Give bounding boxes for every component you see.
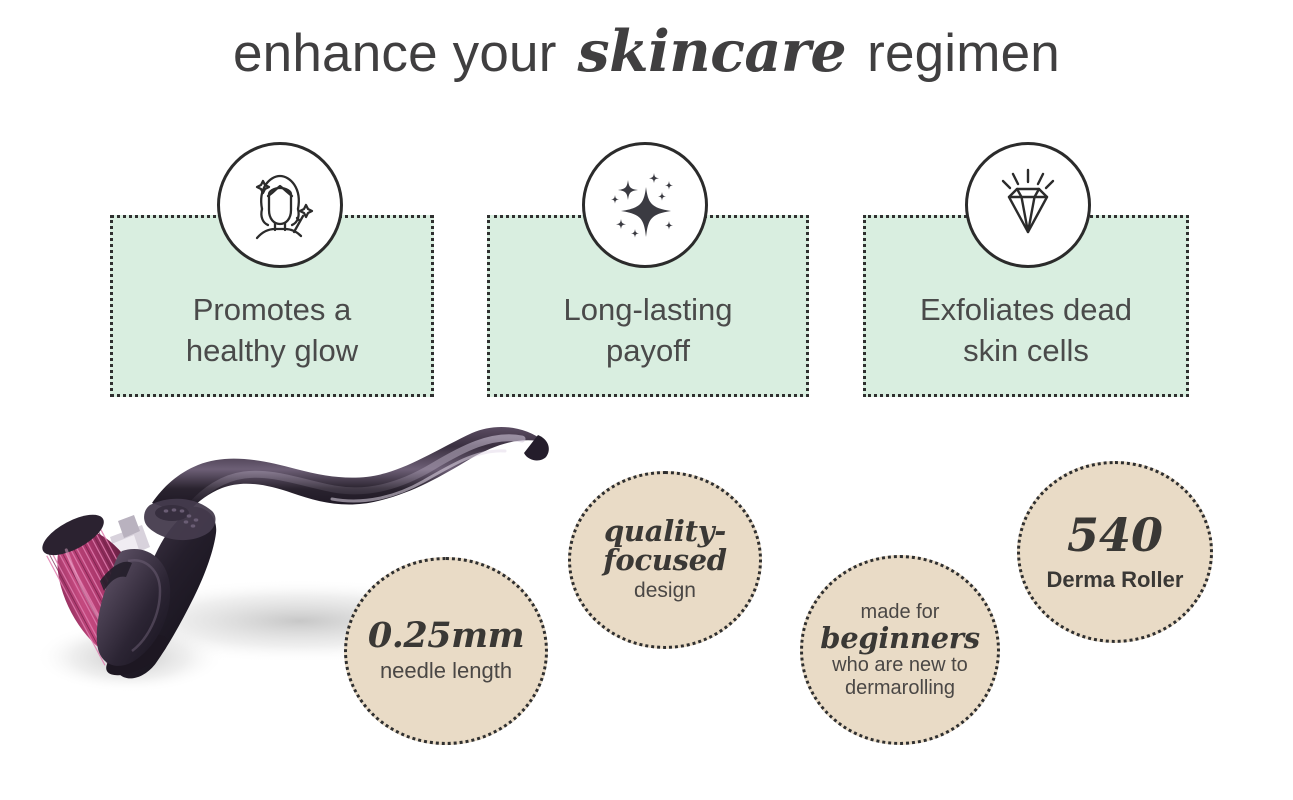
woman-face-sparkle-icon xyxy=(217,142,343,268)
badge-subtext: Derma Roller xyxy=(1047,568,1184,593)
badge-made-for-beginners: made for beginners who are new to dermar… xyxy=(800,555,1000,745)
page-title-prefix: enhance your xyxy=(233,24,557,83)
feature-label-line-2: payoff xyxy=(490,331,806,372)
sparkles-icon xyxy=(582,142,708,268)
badge-subtext-line-1: who are new to xyxy=(832,654,968,676)
badge-quality-focused-design: quality- focused design xyxy=(568,471,762,649)
badge-subtext: needle length xyxy=(380,659,512,684)
badge-540-derma-roller: 540 Derma Roller xyxy=(1017,461,1213,643)
feature-card-label: Exfoliates dead skin cells xyxy=(866,290,1186,372)
diamond-icon xyxy=(965,142,1091,268)
badge-headline-line-2: focused xyxy=(603,546,727,575)
feature-card-label: Promotes a healthy glow xyxy=(113,290,431,372)
feature-label-line-1: Promotes a xyxy=(113,290,431,331)
badge-needle-length: 0.25mm needle length xyxy=(344,557,548,745)
page-title: enhance your skincare regimen xyxy=(0,22,1293,82)
badge-toptext: made for xyxy=(861,601,940,623)
badge-headline-line-1: quality- xyxy=(604,517,726,546)
badge-headline: 540 xyxy=(1067,512,1163,558)
badge-headline: 0.25mm xyxy=(368,618,524,653)
feature-label-line-2: skin cells xyxy=(866,331,1186,372)
badge-headline: beginners xyxy=(820,624,980,653)
feature-label-line-1: Exfoliates dead xyxy=(866,290,1186,331)
feature-label-line-2: healthy glow xyxy=(113,331,431,372)
badge-subtext: design xyxy=(634,579,696,603)
page-title-emphasis: skincare xyxy=(572,18,853,85)
badge-subtext-line-2: dermarolling xyxy=(845,677,955,699)
feature-card-label: Long-lasting payoff xyxy=(490,290,806,372)
feature-label-line-1: Long-lasting xyxy=(490,290,806,331)
page-title-suffix: regimen xyxy=(867,24,1060,83)
